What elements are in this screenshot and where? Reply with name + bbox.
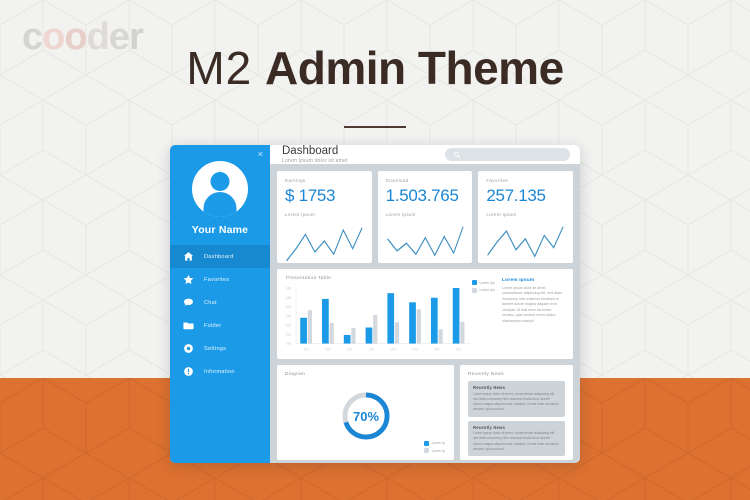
svg-text:0.04: 0.04 <box>286 305 291 310</box>
stat-card-download: Download 1.503.765 Lorem Ipsum <box>378 171 473 263</box>
sidebar-item-dashboard[interactable]: Dashboard <box>170 245 270 268</box>
svg-text:0.06: 0.06 <box>286 286 291 291</box>
presentation-table-card: Presentation Table 0.06 0.05 0.04 0.03 0… <box>277 269 573 359</box>
sidebar-item-chat[interactable]: Chat <box>170 291 270 314</box>
list-item[interactable]: Recently News Lorem ipsum dolor sit amet… <box>468 421 565 457</box>
search-icon <box>453 151 461 159</box>
search-input[interactable] <box>445 148 570 161</box>
stat-card-earnings: Earnings $ 1753 Lorem Ipsum <box>277 171 372 263</box>
stat-label: Earnings <box>285 178 364 183</box>
header-titles: Dashboard Lorem ipsum dolor sit amet <box>282 145 348 164</box>
chart-side-panel: Lorem Ips Lorem Ips Lorem Ipsum Lorem ip… <box>472 276 564 355</box>
home-icon <box>183 251 194 262</box>
stat-sublabel: Lorem Ipsum <box>285 212 364 217</box>
page-title-light: M2 <box>186 42 252 94</box>
dashboard-board: Earnings $ 1753 Lorem Ipsum Download 1.5… <box>270 164 580 463</box>
news-item-title: Recently News <box>473 385 560 390</box>
dashboard-window: × Your Name Dashboard Favorites Chat <box>170 145 580 463</box>
sidebar-item-label: Information <box>204 369 235 375</box>
profile-block: Your Name <box>170 145 270 245</box>
legend-label: Lorem Ip <box>432 441 445 445</box>
avatar-body <box>204 192 237 217</box>
stat-value: 257.135 <box>486 186 565 206</box>
sidebar-filler <box>170 383 270 463</box>
legend-label: Lorem Ip <box>432 449 445 453</box>
legend-label: Lorem Ips <box>480 288 495 292</box>
news-item-title: Recently News <box>473 425 560 430</box>
chart-description-body: Lorem ipsum dolor sit amet, consectetuer… <box>502 286 564 325</box>
topbar: Dashboard Lorem ipsum dolor sit amet <box>270 145 580 164</box>
legend-item: Lorem Ip <box>424 441 445 446</box>
legend-swatch <box>472 288 477 293</box>
svg-text:2010: 2010 <box>304 347 310 352</box>
sidebar-item-label: Folder <box>204 323 221 329</box>
recently-news-card: Recently News Recently News Lorem ipsum … <box>460 365 573 460</box>
sidebar-item-information[interactable]: Information <box>170 360 270 383</box>
gear-icon <box>183 343 194 354</box>
stat-label: Download <box>386 178 465 183</box>
svg-text:2013: 2013 <box>369 347 375 352</box>
legend-swatch <box>472 280 477 285</box>
close-icon[interactable]: × <box>258 150 263 159</box>
donut-center-label: 70% <box>353 408 379 423</box>
svg-text:0.03: 0.03 <box>286 314 291 319</box>
legend-label: Lorem Ips <box>480 281 495 285</box>
sidebar-item-settings[interactable]: Settings <box>170 337 270 360</box>
svg-text:2012: 2012 <box>347 347 353 352</box>
stat-value: $ 1753 <box>285 186 364 206</box>
sparkline-chart-favorites <box>486 219 565 263</box>
stat-card-favorites: Favorites 257.135 Lorem Ipsum <box>478 171 573 263</box>
legend-item: Lorem Ips <box>472 280 502 285</box>
stat-value: 1.503.765 <box>386 186 465 206</box>
presentation-table-title: Presentation Table <box>286 276 472 281</box>
sidebar-item-label: Chat <box>204 300 217 306</box>
legend-swatch <box>424 448 429 453</box>
svg-text:2014: 2014 <box>391 347 397 352</box>
folder-icon <box>183 320 194 331</box>
svg-text:0.01: 0.01 <box>286 332 291 337</box>
sidebar-item-label: Settings <box>204 346 226 352</box>
donut-chart: 70% <box>285 375 446 456</box>
stat-sublabel: Lorem Ipsum <box>486 212 565 217</box>
star-icon <box>183 274 194 285</box>
chart-description: Lorem Ipsum Lorem ipsum dolor sit amet, … <box>502 278 564 355</box>
recently-news-title: Recently News <box>468 372 565 377</box>
svg-text:0.02: 0.02 <box>286 323 291 328</box>
sparkline-chart-earnings <box>285 219 364 263</box>
sidebar: × Your Name Dashboard Favorites Chat <box>170 145 270 463</box>
news-item-body: Lorem ipsum dolor sit amet, consectetuer… <box>473 392 560 413</box>
avatar[interactable] <box>192 161 248 217</box>
svg-text:2015: 2015 <box>412 347 418 352</box>
dashboard-title: Dashboard <box>282 145 348 157</box>
bar-chart: 0.06 0.05 0.04 0.03 0.02 0.01 0.00 <box>286 284 472 355</box>
sparkline-chart-download <box>386 219 465 263</box>
bottom-row: Diagram 70% 70% Lorem Ip <box>277 365 573 460</box>
sidebar-item-label: Favorites <box>204 277 229 283</box>
bar-chart-legend: Lorem Ips Lorem Ips <box>472 278 502 355</box>
legend-item: Lorem Ips <box>472 288 502 293</box>
stat-sublabel: Lorem Ipsum <box>386 212 465 217</box>
info-icon <box>183 366 194 377</box>
page-title-bold: Admin Theme <box>265 42 564 94</box>
svg-text:2017: 2017 <box>456 347 462 352</box>
news-item-body: Lorem ipsum dolor sit amet, consectetuer… <box>473 431 560 452</box>
stat-card-row: Earnings $ 1753 Lorem Ipsum Download 1.5… <box>277 171 573 263</box>
avatar-head <box>211 172 230 191</box>
stat-label: Favorites <box>486 178 565 183</box>
svg-text:0.00: 0.00 <box>286 341 291 346</box>
diagram-legend: Lorem Ip Lorem Ip <box>424 441 445 454</box>
legend-swatch <box>424 441 429 446</box>
sidebar-item-folder[interactable]: Folder <box>170 314 270 337</box>
sidebar-item-favorites[interactable]: Favorites <box>170 268 270 291</box>
legend-item: Lorem Ip <box>424 448 445 453</box>
chart-description-title: Lorem Ipsum <box>502 278 564 283</box>
svg-text:0.05: 0.05 <box>286 295 291 300</box>
svg-text:2011: 2011 <box>325 347 330 352</box>
sidebar-item-label: Dashboard <box>204 254 234 260</box>
profile-name: Your Name <box>170 224 270 236</box>
chat-icon <box>183 297 194 308</box>
page-title: M2 Admin Theme <box>0 44 750 92</box>
bar-chart-region: Presentation Table 0.06 0.05 0.04 0.03 0… <box>286 276 472 355</box>
content-area: Dashboard Lorem ipsum dolor sit amet Ear… <box>270 145 580 463</box>
svg-text:2016: 2016 <box>434 347 440 352</box>
list-item[interactable]: Recently News Lorem ipsum dolor sit amet… <box>468 381 565 417</box>
title-underline-divider <box>344 126 406 128</box>
diagram-card: Diagram 70% 70% Lorem Ip <box>277 365 454 460</box>
